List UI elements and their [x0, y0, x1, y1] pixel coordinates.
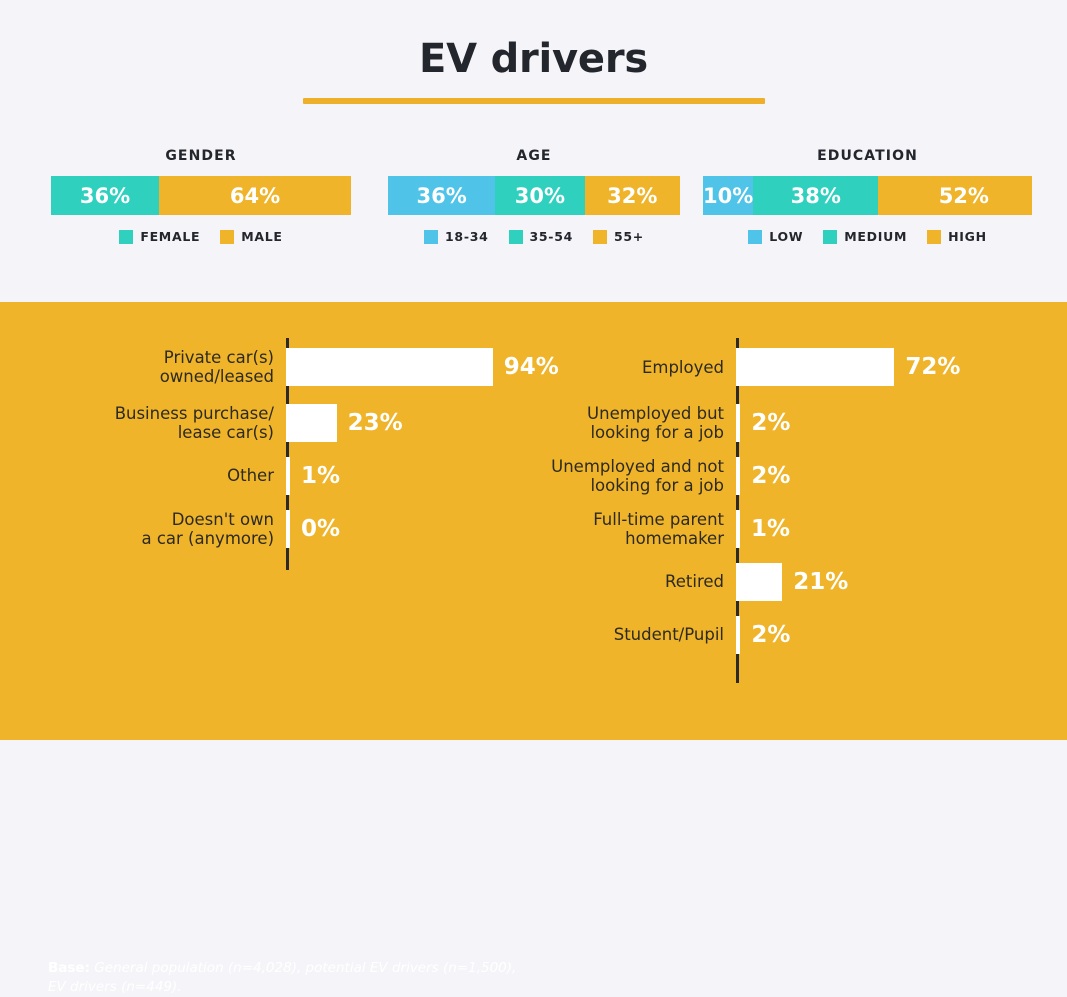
base-note-text: General population (n=4,028), potential … [48, 960, 516, 995]
demographic-group-gender: GENDER 36%64% FEMALEMALE [51, 148, 351, 244]
chart-row: Retired21% [530, 555, 1030, 608]
stacked-bar-gender: 36%64% [51, 176, 351, 215]
chart-bar-value-label: 1% [740, 516, 790, 542]
title-underline-rule [303, 98, 765, 104]
stacked-bar-segment: 30% [495, 176, 584, 215]
base-note-prefix: Base: [48, 960, 90, 976]
demographic-title: AGE [388, 148, 680, 164]
legend-item-label: 35-54 [530, 229, 573, 244]
legend-item-label: HIGH [948, 229, 987, 244]
legend-swatch-icon [748, 230, 762, 244]
chart-bar-value-label: 21% [782, 569, 848, 595]
legend-swatch-icon [220, 230, 234, 244]
legend-item[interactable]: MALE [220, 229, 282, 244]
stacked-bar-segment: 64% [159, 176, 351, 215]
chart-bar [286, 404, 337, 442]
legend-item[interactable]: MEDIUM [823, 229, 907, 244]
chart-row: Unemployed but looking for a job2% [530, 396, 1030, 449]
legend-item-label: 18-34 [445, 229, 488, 244]
chart-row-label: Other [48, 466, 286, 485]
legend-item-label: LOW [769, 229, 803, 244]
chart-row-label: Full-time parent homemaker [530, 510, 736, 548]
legend-age: 18-3435-5455+ [388, 229, 680, 244]
legend-swatch-icon [119, 230, 133, 244]
chart-row-track: 21% [736, 555, 1030, 608]
chart-bar-value-label: 0% [290, 516, 340, 542]
chart-row-label: Private car(s) owned/leased [48, 348, 286, 386]
chart-row-track: 72% [736, 338, 1030, 396]
chart-bar [286, 348, 493, 386]
chart-row-label: Unemployed and not looking for a job [530, 457, 736, 495]
chart-row-track: 1% [736, 502, 1030, 555]
chart-row: Full-time parent homemaker1% [530, 502, 1030, 555]
chart-row-track: 23% [286, 396, 528, 449]
page-title: EV drivers [0, 36, 1067, 82]
chart-row-label: Employed [530, 358, 736, 377]
chart-row-track: 2% [736, 449, 1030, 502]
segment-value-label: 52% [939, 184, 989, 208]
segment-value-label: 30% [515, 184, 565, 208]
chart-row-label: Retired [530, 572, 736, 591]
chart-row-track: 0% [286, 502, 528, 555]
legend-item[interactable]: HIGH [927, 229, 987, 244]
legend-swatch-icon [593, 230, 607, 244]
chart-bar-value-label: 23% [337, 410, 403, 436]
chart-bar [736, 563, 782, 601]
chart-row-label: Doesn't own a car (anymore) [48, 510, 286, 548]
legend-item[interactable]: 55+ [593, 229, 644, 244]
demographics-section: EV drivers GENDER 36%64% FEMALEMALE AGE … [0, 0, 1067, 302]
chart-bar [736, 348, 894, 386]
stacked-bar-segment: 32% [585, 176, 680, 215]
segment-value-label: 64% [230, 184, 280, 208]
segment-value-label: 36% [80, 184, 130, 208]
legend-education: LOWMEDIUMHIGH [703, 229, 1032, 244]
stacked-bar-segment: 52% [878, 176, 1032, 215]
stacked-bar-segment: 36% [388, 176, 495, 215]
demographic-title: GENDER [51, 148, 351, 164]
legend-gender: FEMALEMALE [51, 229, 351, 244]
demographic-group-education: EDUCATION 10%38%52% LOWMEDIUMHIGH [703, 148, 1032, 244]
segment-value-label: 10% [703, 184, 753, 208]
legend-item[interactable]: 18-34 [424, 229, 488, 244]
legend-item[interactable]: LOW [748, 229, 803, 244]
chart-bar-value-label: 2% [740, 463, 790, 489]
segment-value-label: 32% [607, 184, 657, 208]
stacked-bar-education: 10%38%52% [703, 176, 1032, 215]
infographic-page: EV drivers GENDER 36%64% FEMALEMALE AGE … [0, 0, 1067, 740]
chart-row-label: Student/Pupil [530, 625, 736, 644]
stacked-bar-segment: 36% [51, 176, 159, 215]
chart-row: Business purchase/ lease car(s)23% [48, 396, 528, 449]
legend-swatch-icon [509, 230, 523, 244]
chart-row: Student/Pupil2% [530, 608, 1030, 661]
chart-row-track: 1% [286, 449, 528, 502]
chart-bar-value-label: 1% [290, 463, 340, 489]
demographic-group-age: AGE 36%30%32% 18-3435-5455+ [388, 148, 680, 244]
stacked-bar-segment: 38% [753, 176, 878, 215]
chart-bar-value-label: 2% [740, 622, 790, 648]
legend-item-label: MALE [241, 229, 282, 244]
chart-row: Employed72% [530, 338, 1030, 396]
chart-row: Unemployed and not looking for a job2% [530, 449, 1030, 502]
stacked-bar-age: 36%30%32% [388, 176, 680, 215]
demographic-title: EDUCATION [703, 148, 1032, 164]
segment-value-label: 38% [791, 184, 841, 208]
chart-row-track: 2% [736, 608, 1030, 661]
chart-row: Doesn't own a car (anymore)0% [48, 502, 528, 555]
employment-status-chart: Employed72%Unemployed but looking for a … [530, 338, 1030, 661]
chart-row-label: Business purchase/ lease car(s) [48, 404, 286, 442]
legend-item-label: FEMALE [140, 229, 200, 244]
chart-row: Other1% [48, 449, 528, 502]
chart-row-track: 94% [286, 338, 559, 396]
chart-row: Private car(s) owned/leased94% [48, 338, 528, 396]
legend-item[interactable]: FEMALE [119, 229, 200, 244]
car-ownership-chart: Private car(s) owned/leased94%Business p… [48, 338, 528, 555]
legend-swatch-icon [823, 230, 837, 244]
chart-row-label: Unemployed but looking for a job [530, 404, 736, 442]
stacked-bar-segment: 10% [703, 176, 753, 215]
chart-bar-value-label: 72% [894, 354, 960, 380]
legend-item-label: 55+ [614, 229, 644, 244]
segment-value-label: 36% [416, 184, 466, 208]
legend-swatch-icon [927, 230, 941, 244]
legend-swatch-icon [424, 230, 438, 244]
legend-item-label: MEDIUM [844, 229, 907, 244]
chart-row-track: 2% [736, 396, 1030, 449]
legend-item[interactable]: 35-54 [509, 229, 573, 244]
detail-charts-section: Private car(s) owned/leased94%Business p… [0, 302, 1067, 740]
base-note: Base: General population (n=4,028), pote… [48, 959, 518, 997]
chart-bar-value-label: 2% [740, 410, 790, 436]
